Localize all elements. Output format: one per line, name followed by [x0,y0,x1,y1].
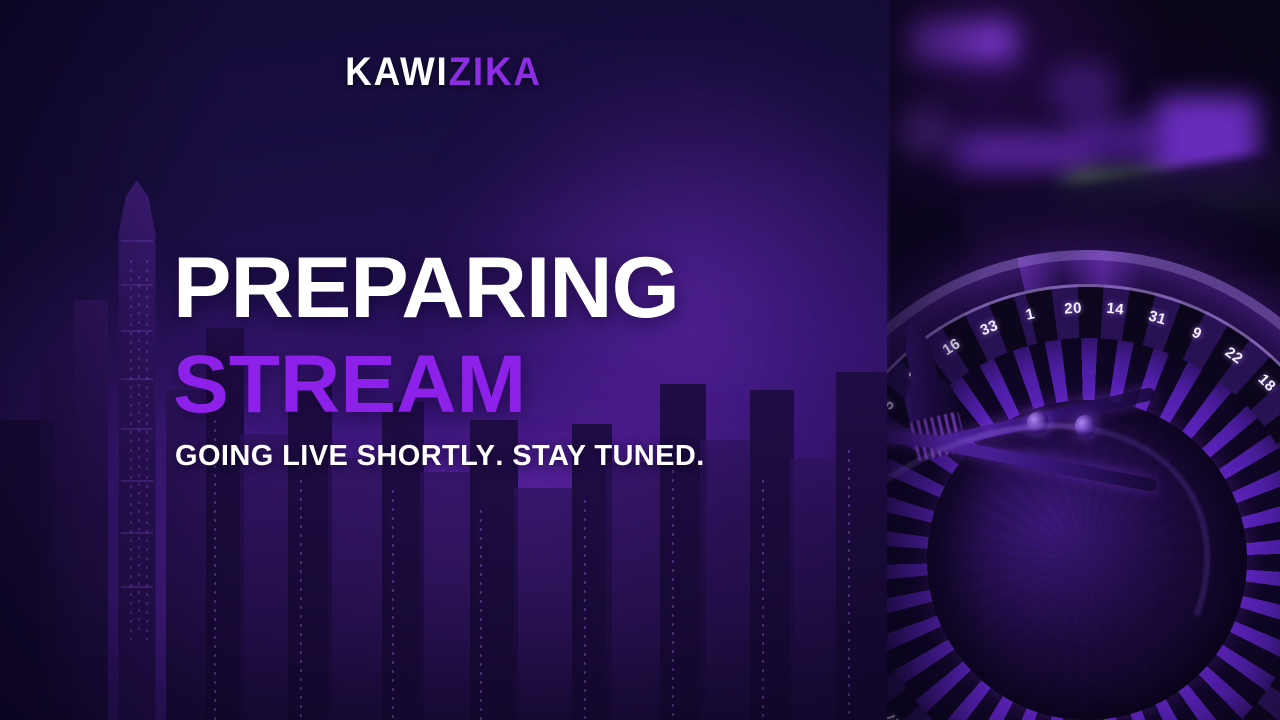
wheel-number: 33 [978,316,1001,339]
subtitle-suffix: . [696,440,704,472]
stream-offline-banner: 1201431922182972812353260321519421225173… [0,0,1280,720]
subtitle-line: GOING LIVE SHORTLY. STAY TUNED. [175,442,705,471]
wheel-number: 22 [1222,343,1246,367]
wheel-number: 14 [1106,300,1125,319]
subtitle-emphasis-1: SHORTLY [357,440,496,472]
chip-bokeh-2 [1047,60,1119,122]
wheel-number: 18 [1254,371,1279,396]
brand-name-light: KAWI [345,50,448,94]
brand-name-accent: ZIKA [449,50,542,94]
subtitle-middle: . STAY [495,440,594,472]
chip-bokeh-6 [893,104,947,158]
headline-line-1: PREPARING [173,248,887,330]
roulette-wheel: 1201431922182972812353260321519421225173… [887,188,1280,720]
wheel-number: 20 [1063,299,1082,317]
chip-bokeh-4 [949,132,1089,172]
chip-bokeh-1 [907,20,1017,62]
subtitle-emphasis-2: TUNED [594,440,696,472]
right-roulette-panel: 1201431922182972812353260321519421225173… [887,0,1280,720]
wheel-number: 31 [1146,307,1168,328]
wheel-number: 1 [1024,305,1036,324]
brand-logo: KAWIZIKA [35,52,851,92]
wheel-number: 9 [1189,324,1204,343]
subtitle-prefix: GOING LIVE [175,440,357,472]
wheel-number: 16 [940,335,964,359]
chip-bokeh-5 [1077,118,1165,164]
headline-block: PREPARING STREAM [173,248,873,424]
headline-line-2: STREAM [173,346,887,424]
